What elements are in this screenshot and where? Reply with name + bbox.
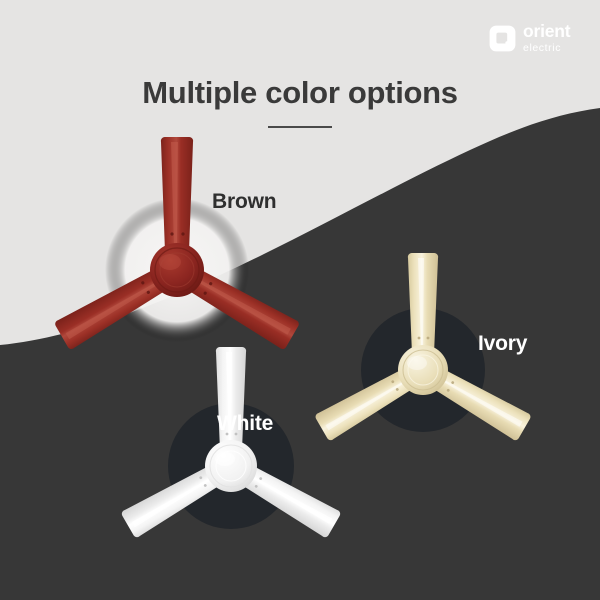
brand-name: orient — [523, 23, 570, 41]
promo-canvas: orient electric Multiple color options — [0, 0, 600, 600]
color-label-white-text: White — [217, 412, 273, 436]
fan-white — [106, 336, 356, 576]
orient-q-mark-icon — [489, 25, 516, 52]
color-label-ivory-text: Ivory — [478, 332, 527, 356]
color-label-brown: Brown — [212, 190, 276, 214]
brand-tagline: electric — [523, 43, 570, 54]
brand-logo: orient electric — [489, 16, 589, 60]
color-label-white: White — [217, 412, 273, 436]
page-title: Multiple color options — [0, 75, 600, 111]
color-label-brown-text: Brown — [212, 190, 276, 214]
color-label-ivory: Ivory — [478, 332, 527, 356]
